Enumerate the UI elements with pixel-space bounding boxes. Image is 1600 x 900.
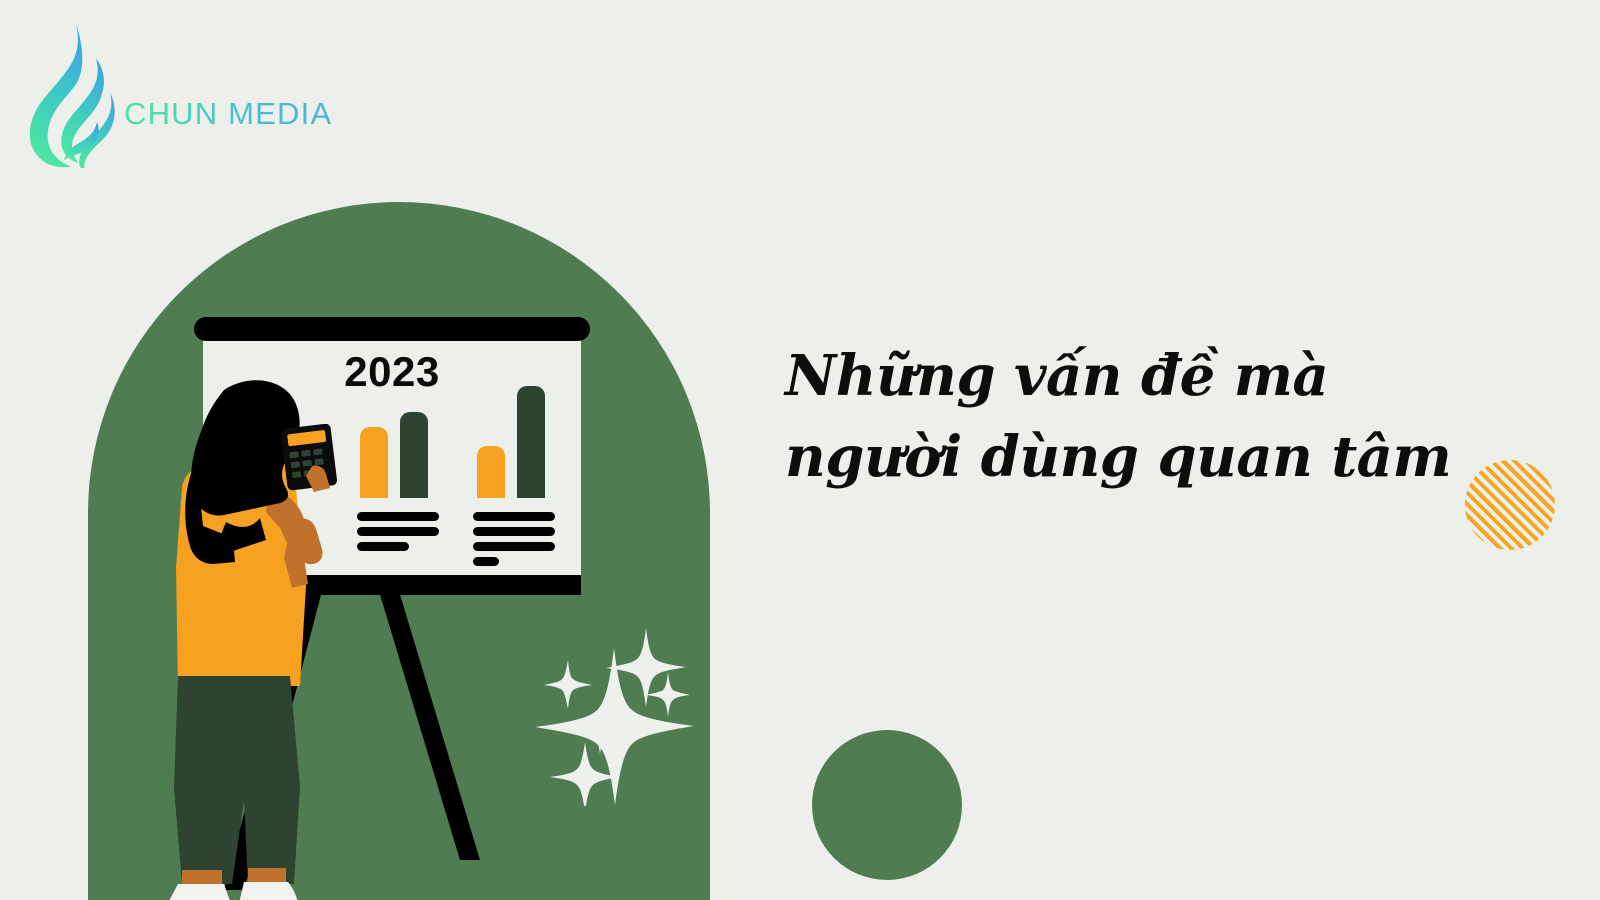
board-textline-2a bbox=[473, 512, 555, 521]
board-textline-2d bbox=[473, 557, 499, 566]
poster-canvas: CHUN MEDIA 2023 bbox=[0, 0, 1600, 900]
person-shoe-right bbox=[236, 882, 299, 900]
person-shoe-left bbox=[160, 884, 236, 900]
bar-group2-orange bbox=[477, 446, 505, 498]
board-top-frame bbox=[194, 317, 590, 341]
board-textline-2b bbox=[473, 527, 555, 536]
striped-circle-decoration bbox=[1465, 460, 1555, 550]
person-pants bbox=[174, 676, 300, 884]
page-title: Những vấn đề mà người dùng quan tâm bbox=[785, 336, 1545, 497]
sparkle-cluster-icon bbox=[528, 606, 708, 806]
headline-line-2: người dùng quan tâm bbox=[785, 417, 1545, 498]
calculator-icon bbox=[282, 424, 338, 492]
headline-line-1: Những vấn đề mà bbox=[785, 343, 1328, 409]
person-illustration bbox=[120, 370, 380, 900]
bar-group2-green bbox=[517, 386, 545, 498]
solid-circle-decoration bbox=[812, 730, 962, 880]
bar-group1-green bbox=[400, 412, 428, 498]
board-textline-2c bbox=[473, 542, 555, 551]
